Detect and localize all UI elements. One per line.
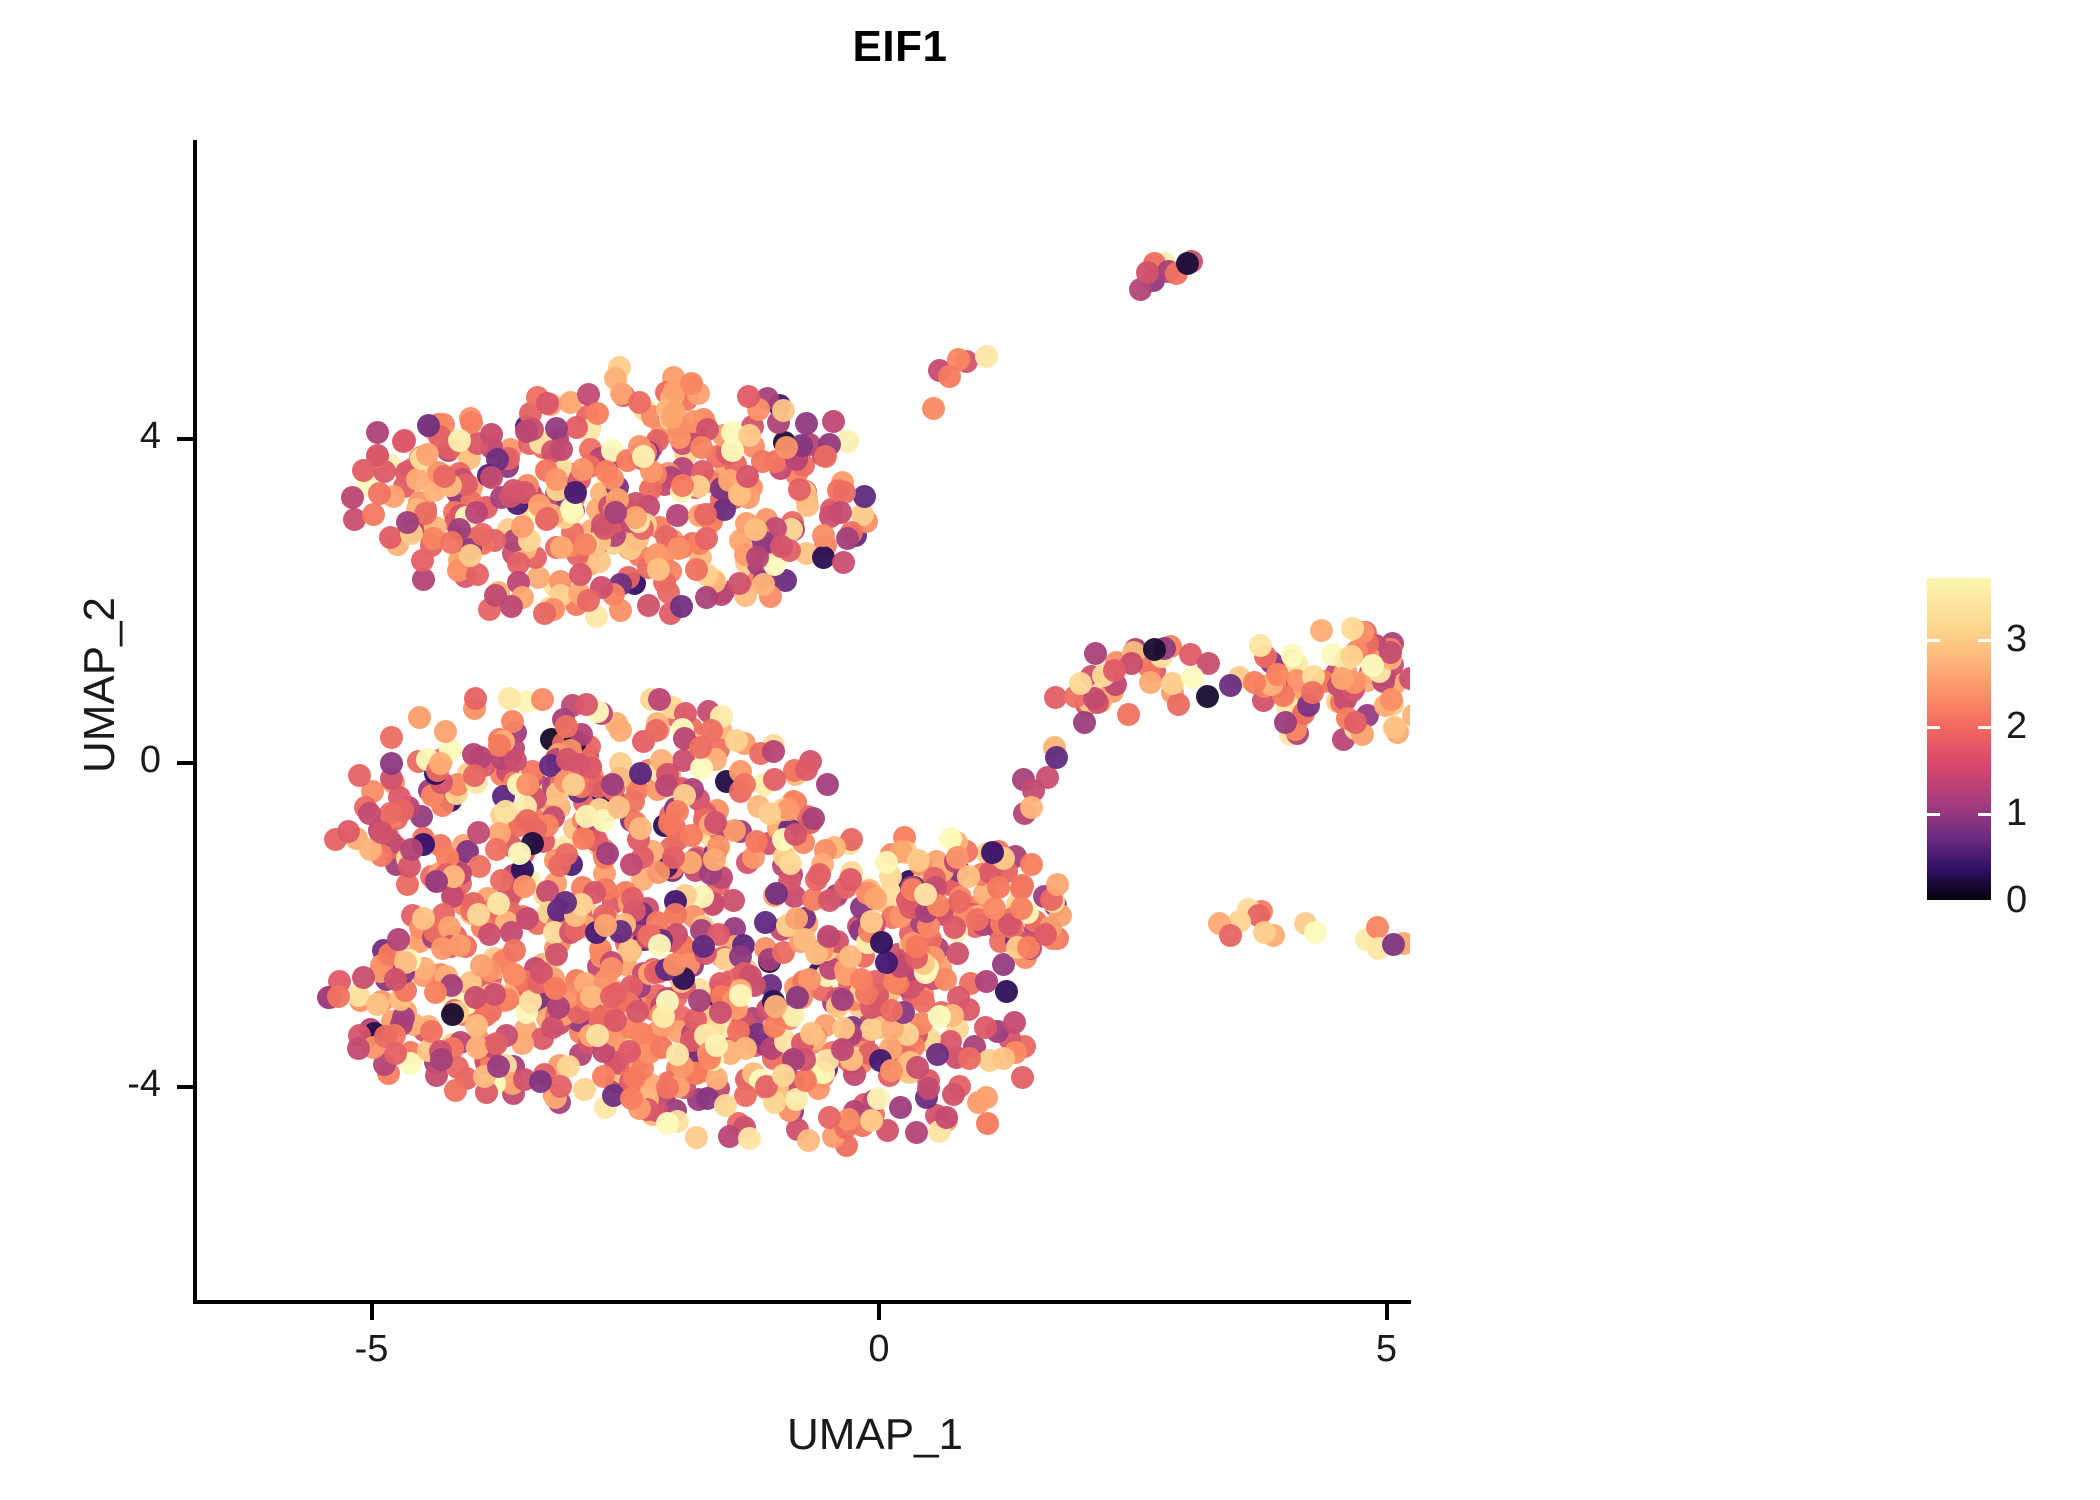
scatter-point xyxy=(694,503,717,526)
scatter-point xyxy=(831,988,854,1011)
colorbar-tick-mark xyxy=(1927,639,1991,642)
scatter-point xyxy=(464,687,487,710)
scatter-point xyxy=(1003,1011,1026,1034)
scatter-point xyxy=(648,688,671,711)
scatter-point xyxy=(817,925,840,948)
scatter-point xyxy=(596,842,619,865)
scatter-point xyxy=(754,911,777,934)
scatter-point xyxy=(1219,924,1242,947)
scatter-point xyxy=(1340,645,1363,668)
scatter-point xyxy=(462,743,485,766)
scatter-point xyxy=(975,1086,998,1109)
scatter-point xyxy=(485,1032,508,1055)
scatter-point xyxy=(822,410,845,433)
scatter-point xyxy=(1380,688,1403,711)
scatter-point xyxy=(935,1106,958,1129)
scatter-point xyxy=(689,736,712,759)
scatter-point xyxy=(504,749,527,772)
scatter-point xyxy=(680,372,703,395)
scatter-point xyxy=(544,977,567,1000)
scatter-point xyxy=(942,1083,965,1106)
scatter-point xyxy=(692,935,715,958)
page-title: EIF1 xyxy=(0,22,1800,72)
scatter-point xyxy=(362,503,385,526)
scatter-point xyxy=(620,1087,643,1110)
scatter-point xyxy=(752,573,775,596)
x-axis-line xyxy=(193,1300,1411,1304)
scatter-point xyxy=(705,1034,728,1057)
scatter-point xyxy=(987,876,1010,899)
scatter-points-layer xyxy=(195,140,1410,1302)
scatter-point xyxy=(564,481,587,504)
umap-feature-plot: EIF1 40-4 -505 UMAP_1 UMAP_2 3210 xyxy=(0,0,2100,1500)
scatter-point xyxy=(992,1047,1015,1070)
scatter-point xyxy=(609,719,632,742)
scatter-point xyxy=(408,706,431,729)
scatter-point xyxy=(794,1069,817,1092)
scatter-point xyxy=(494,800,517,823)
scatter-point xyxy=(703,848,726,871)
scatter-point xyxy=(763,1015,786,1038)
scatter-point xyxy=(571,458,594,481)
scatter-point xyxy=(533,602,556,625)
scatter-point xyxy=(800,1022,823,1045)
plot-panel xyxy=(195,140,1410,1302)
scatter-point xyxy=(867,1087,890,1110)
scatter-point xyxy=(550,438,573,461)
x-tick-mark xyxy=(877,1304,881,1320)
scatter-point xyxy=(503,939,526,962)
scatter-point xyxy=(860,1109,883,1132)
scatter-point xyxy=(763,768,786,791)
scatter-point xyxy=(736,465,759,488)
scatter-point xyxy=(1011,1066,1034,1089)
scatter-point xyxy=(833,481,856,504)
scatter-point xyxy=(565,416,588,439)
colorbar-tick-label: 2 xyxy=(2006,707,2027,745)
scatter-point xyxy=(417,414,440,437)
colorbar-legend: 3210 xyxy=(1920,570,2090,915)
scatter-point xyxy=(624,506,647,529)
scatter-point xyxy=(1020,796,1043,819)
scatter-point xyxy=(695,586,718,609)
x-tick-label: 5 xyxy=(1347,1330,1427,1368)
scatter-point xyxy=(1281,644,1304,667)
scatter-point xyxy=(352,459,375,482)
colorbar-tick-mark xyxy=(1927,813,1991,816)
scatter-point xyxy=(459,544,482,567)
scatter-point xyxy=(607,796,630,819)
scatter-point xyxy=(480,466,503,489)
scatter-point xyxy=(812,546,835,569)
x-axis-title: UMAP_1 xyxy=(455,1410,1295,1460)
scatter-point xyxy=(775,436,798,459)
scatter-point xyxy=(327,985,350,1008)
scatter-point xyxy=(1139,671,1162,694)
scatter-point xyxy=(500,595,523,618)
scatter-point xyxy=(808,863,831,886)
scatter-point xyxy=(541,1016,564,1039)
scatter-point xyxy=(1301,681,1324,704)
scatter-point xyxy=(922,397,945,420)
scatter-point xyxy=(515,420,538,443)
scatter-point xyxy=(814,445,837,468)
scatter-point xyxy=(795,412,818,435)
scatter-point xyxy=(905,1121,928,1144)
scatter-point xyxy=(975,345,998,368)
colorbar-tick-label: 3 xyxy=(2006,620,2027,658)
scatter-point xyxy=(734,1084,757,1107)
scatter-point xyxy=(975,970,998,993)
scatter-point xyxy=(508,842,531,865)
scatter-point xyxy=(995,980,1018,1003)
x-tick-label: 0 xyxy=(839,1330,919,1368)
scatter-point xyxy=(554,891,577,914)
scatter-point xyxy=(946,942,969,965)
scatter-point xyxy=(352,966,375,989)
scatter-point xyxy=(465,501,488,524)
scatter-point xyxy=(341,486,364,509)
scatter-point xyxy=(938,365,961,388)
scatter-point xyxy=(1117,703,1140,726)
scatter-point xyxy=(785,907,808,930)
scatter-point xyxy=(1143,638,1166,661)
scatter-point xyxy=(1046,873,1069,896)
scatter-point xyxy=(416,443,439,466)
scatter-point xyxy=(1266,663,1289,686)
scatter-point xyxy=(503,963,526,986)
scatter-point xyxy=(853,485,876,508)
scatter-point xyxy=(366,421,389,444)
scatter-point xyxy=(516,907,539,930)
scatter-point xyxy=(802,807,825,830)
scatter-point xyxy=(870,931,893,954)
scatter-point xyxy=(572,827,595,850)
x-tick-mark xyxy=(1385,1304,1389,1320)
scatter-point xyxy=(690,757,713,780)
scatter-point xyxy=(733,773,756,796)
y-axis-title: UMAP_2 xyxy=(75,285,125,1085)
colorbar-tick-mark xyxy=(1927,726,1991,729)
scatter-point xyxy=(772,399,795,422)
scatter-point xyxy=(875,951,898,974)
scatter-point xyxy=(470,954,493,977)
scatter-point xyxy=(467,821,490,844)
x-tick-mark xyxy=(370,1304,374,1320)
scatter-point xyxy=(779,852,802,875)
scatter-point xyxy=(722,889,745,912)
scatter-point xyxy=(1069,672,1092,695)
scatter-point xyxy=(737,385,760,408)
scatter-point xyxy=(594,914,617,937)
scatter-point xyxy=(864,887,887,910)
scatter-point xyxy=(685,1126,708,1149)
scatter-point xyxy=(906,1056,929,1079)
scatter-point xyxy=(1045,746,1068,769)
scatter-point xyxy=(1249,634,1272,657)
scatter-point xyxy=(832,551,855,574)
scatter-point xyxy=(429,752,452,775)
scatter-point xyxy=(536,507,559,530)
x-tick-label: -5 xyxy=(332,1330,412,1368)
scatter-point xyxy=(793,928,816,951)
scatter-point xyxy=(695,527,718,550)
scatter-point xyxy=(704,811,727,834)
scatter-point xyxy=(549,1075,572,1098)
scatter-point xyxy=(772,1064,795,1087)
scatter-point xyxy=(816,773,839,796)
scatter-point xyxy=(1181,666,1204,689)
scatter-point xyxy=(1304,921,1327,944)
scatter-point xyxy=(889,1096,912,1119)
scatter-point xyxy=(976,1112,999,1135)
scatter-point xyxy=(645,719,668,742)
colorbar-tick-label: 1 xyxy=(2006,794,2027,832)
scatter-point xyxy=(527,566,550,589)
scatter-point xyxy=(370,821,393,844)
scatter-point xyxy=(600,957,623,980)
scatter-point xyxy=(577,589,600,612)
scatter-point xyxy=(656,1112,679,1135)
scatter-point xyxy=(1136,261,1159,284)
scatter-point xyxy=(444,1079,467,1102)
y-tick-mark xyxy=(177,1085,193,1089)
scatter-point xyxy=(586,402,609,425)
scatter-point xyxy=(337,820,360,843)
scatter-point xyxy=(547,996,570,1019)
y-tick-mark xyxy=(177,437,193,441)
scatter-point xyxy=(629,817,652,840)
scatter-point xyxy=(531,688,554,711)
scatter-point xyxy=(629,762,652,785)
scatter-point xyxy=(485,838,508,861)
scatter-point xyxy=(797,1129,820,1152)
scatter-point xyxy=(441,1003,464,1026)
scatter-point xyxy=(433,465,456,488)
scatter-point xyxy=(1274,711,1297,734)
scatter-point xyxy=(738,1127,761,1150)
colorbar-gradient xyxy=(1927,578,1991,900)
scatter-point xyxy=(550,536,573,559)
y-tick-mark xyxy=(177,761,193,765)
scatter-point xyxy=(478,923,501,946)
scatter-point xyxy=(1020,853,1043,876)
scatter-point xyxy=(734,1037,757,1060)
scatter-point xyxy=(1344,711,1367,734)
scatter-point xyxy=(595,460,618,483)
y-axis-line xyxy=(193,140,197,1304)
scatter-point xyxy=(400,838,423,861)
scatter-point xyxy=(380,752,403,775)
scatter-point xyxy=(690,436,713,459)
scatter-point xyxy=(487,1055,510,1078)
scatter-point xyxy=(666,504,689,527)
scatter-point xyxy=(725,729,748,752)
scatter-point xyxy=(656,1076,679,1099)
scatter-point xyxy=(721,439,744,462)
scatter-point xyxy=(946,846,969,869)
scatter-point xyxy=(380,726,403,749)
scatter-point xyxy=(424,981,447,1004)
scatter-point xyxy=(928,1005,951,1028)
scatter-point xyxy=(983,897,1006,920)
scatter-point xyxy=(490,869,513,892)
scatter-point xyxy=(958,1047,981,1070)
scatter-point xyxy=(626,1000,649,1023)
scatter-point xyxy=(762,740,785,763)
scatter-point xyxy=(396,511,419,534)
scatter-point xyxy=(618,1040,641,1063)
scatter-point xyxy=(1073,711,1096,734)
scatter-point xyxy=(632,445,655,468)
scatter-point xyxy=(670,595,693,618)
scatter-point xyxy=(795,758,818,781)
scatter-point xyxy=(536,392,559,415)
scatter-point xyxy=(348,764,371,787)
scatter-point xyxy=(875,851,898,874)
scatter-point xyxy=(601,773,624,796)
scatter-point xyxy=(448,429,471,452)
scatter-point xyxy=(818,889,841,912)
scatter-point xyxy=(575,693,598,716)
scatter-point xyxy=(1196,685,1219,708)
scatter-point xyxy=(770,535,793,558)
scatter-point xyxy=(1167,693,1190,716)
scatter-point xyxy=(836,527,859,550)
colorbar-tick-mark xyxy=(1927,900,1991,903)
scatter-point xyxy=(463,764,486,787)
scatter-point xyxy=(1010,897,1033,920)
scatter-point xyxy=(745,830,768,853)
scatter-point xyxy=(764,995,787,1018)
scatter-point xyxy=(1084,642,1107,665)
colorbar-tick-label: 0 xyxy=(2006,881,2027,919)
scatter-point xyxy=(487,892,510,915)
scatter-point xyxy=(586,1024,609,1047)
scatter-point xyxy=(729,984,752,1007)
scatter-point xyxy=(1310,619,1333,642)
scatter-point xyxy=(516,773,539,796)
scatter-point xyxy=(1253,921,1276,944)
scatter-point xyxy=(637,594,660,617)
scatter-point xyxy=(1219,674,1242,697)
scatter-point xyxy=(511,515,534,538)
